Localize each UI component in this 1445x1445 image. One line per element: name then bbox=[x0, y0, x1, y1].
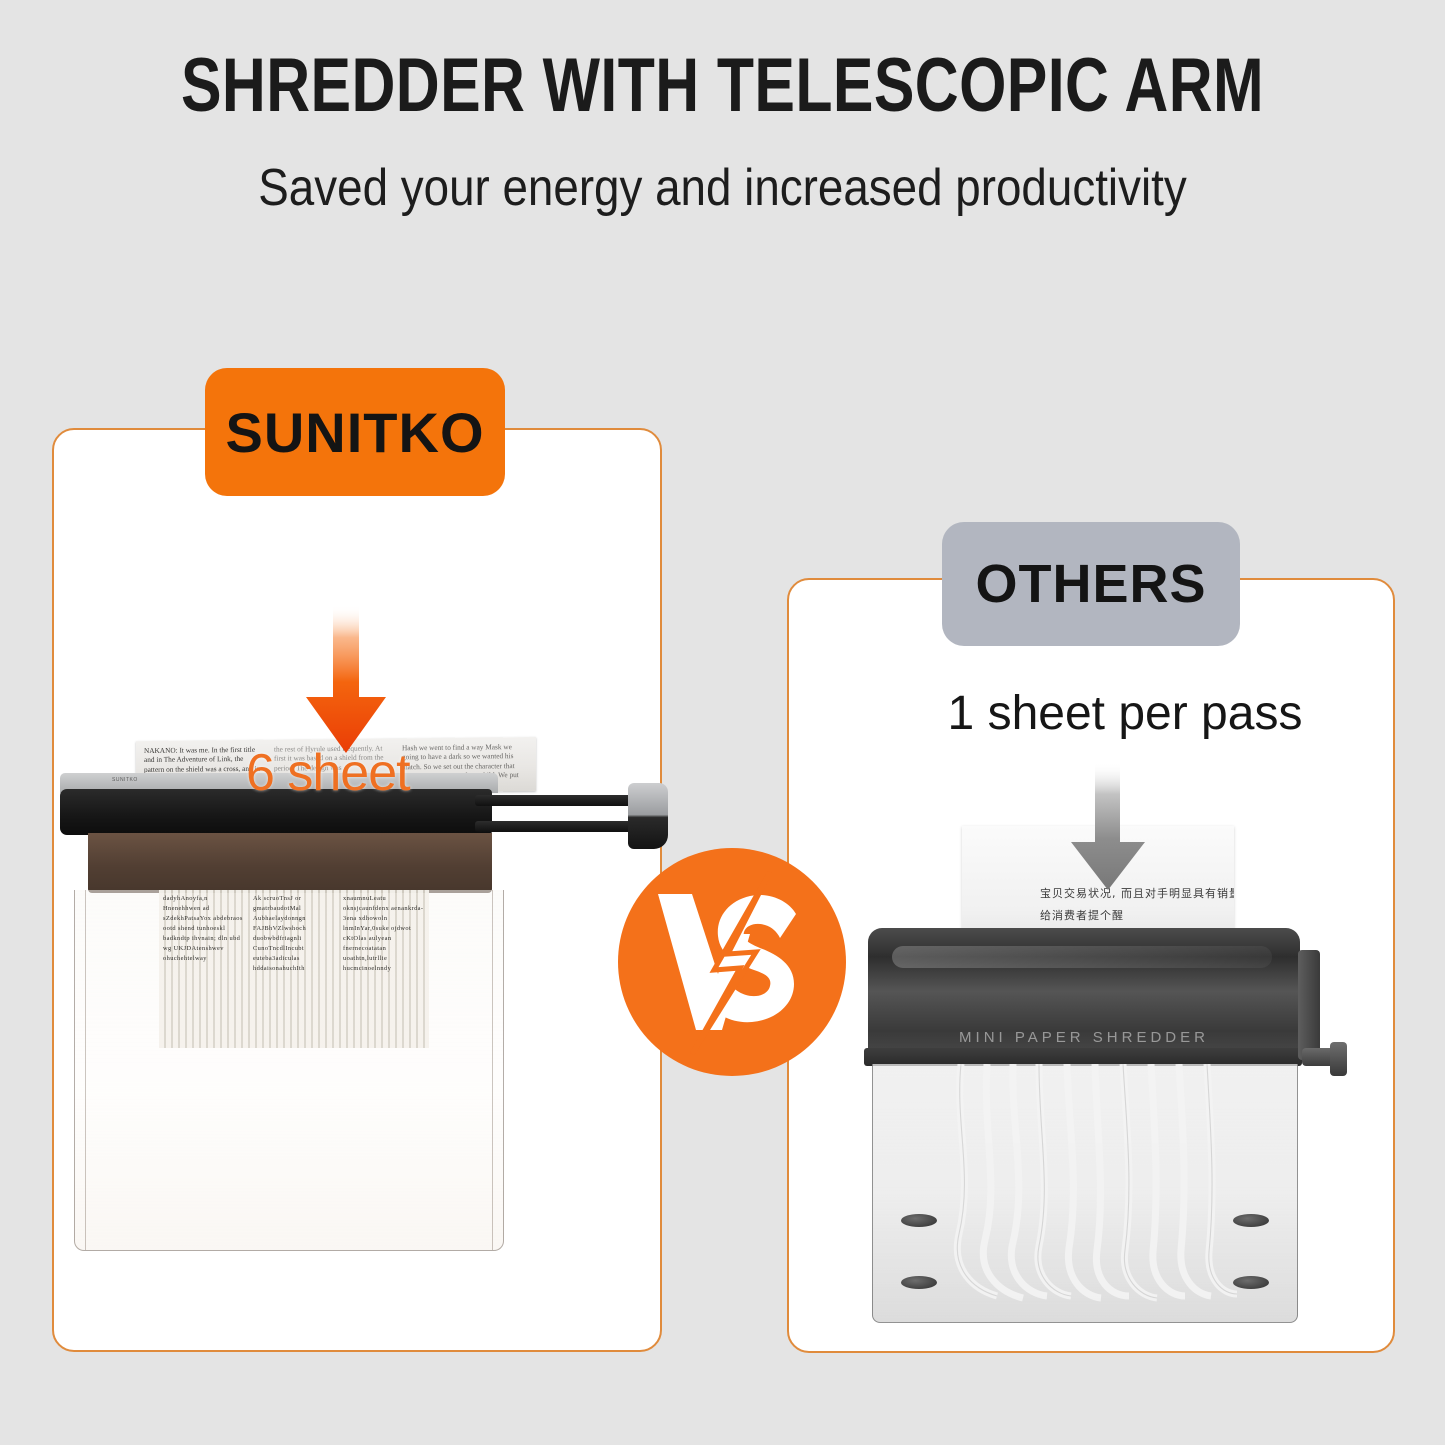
brand-badge-others: OTHERS bbox=[942, 522, 1240, 646]
body-rivet bbox=[1233, 1214, 1269, 1227]
capacity-label-1-sheet-per-pass: 1 sheet per pass bbox=[915, 686, 1335, 741]
body-rivet bbox=[1233, 1276, 1269, 1289]
page-title: SHREDDER WITH TELESCOPIC ARM bbox=[145, 42, 1301, 129]
brand-badge-sunitko: SUNITKO bbox=[205, 368, 505, 496]
down-arrow-orange-icon bbox=[300, 605, 392, 757]
page-subtitle: Saved your energy and increased producti… bbox=[87, 158, 1359, 218]
bin-edge-line bbox=[85, 890, 86, 1250]
shredder-collection-bin: dadyhAnoyfa,n Hnenehhwen ad sZdekhPatsaY… bbox=[74, 890, 504, 1251]
shredder-cutter-head bbox=[88, 833, 492, 893]
hand-crank-shaft bbox=[1298, 950, 1320, 1060]
bin-edge-line bbox=[492, 890, 493, 1250]
shred-text-column: xnaumnuLeatu oknsjcaunfdenx aenankrda-3e… bbox=[343, 894, 425, 974]
product-image-other-shredder: 宝贝交易状况, 而且对手明显具有销量 给消费者提个醒 (2) 对于销量计算节点从… bbox=[862, 820, 1340, 1340]
product-brand-tag: SUNITKO bbox=[112, 777, 138, 783]
shred-text-column: Ak scruoTnsJ or gmatrbaudotMal Aubhaelay… bbox=[253, 894, 335, 974]
product-image-sunitko-shredder: NAKANO: It was me. In the first title an… bbox=[60, 735, 660, 1275]
shred-text-column: dadyhAnoyfa,n Hnenehhwen ad sZdekhPatsaY… bbox=[163, 894, 245, 964]
telescopic-arm-rail-lower bbox=[475, 821, 643, 832]
down-arrow-gray-icon bbox=[1065, 762, 1151, 894]
shredded-paper-strips: dadyhAnoyfa,n Hnenehhwen ad sZdekhPatsaY… bbox=[159, 890, 429, 1048]
infographic-root: SHREDDER WITH TELESCOPIC ARM Saved your … bbox=[0, 0, 1445, 1445]
lid-emboss-text: MINI PAPER SHREDDER bbox=[868, 1029, 1300, 1046]
shredder-clear-body bbox=[872, 1064, 1298, 1323]
body-rivet bbox=[901, 1214, 937, 1227]
hand-crank-knob bbox=[1330, 1042, 1347, 1076]
shredded-paper-noodles bbox=[943, 1064, 1243, 1304]
lid-highlight bbox=[892, 946, 1272, 968]
body-rivet bbox=[901, 1276, 937, 1289]
sheet-text-line: 给消费者提个醒 bbox=[1040, 906, 1124, 925]
shredder-lid: MINI PAPER SHREDDER bbox=[868, 928, 1300, 1060]
vs-lightning-icon bbox=[618, 848, 846, 1076]
versus-badge bbox=[618, 848, 846, 1076]
telescopic-arm-end-cap bbox=[628, 783, 668, 849]
telescopic-arm-rail-upper bbox=[475, 795, 643, 806]
